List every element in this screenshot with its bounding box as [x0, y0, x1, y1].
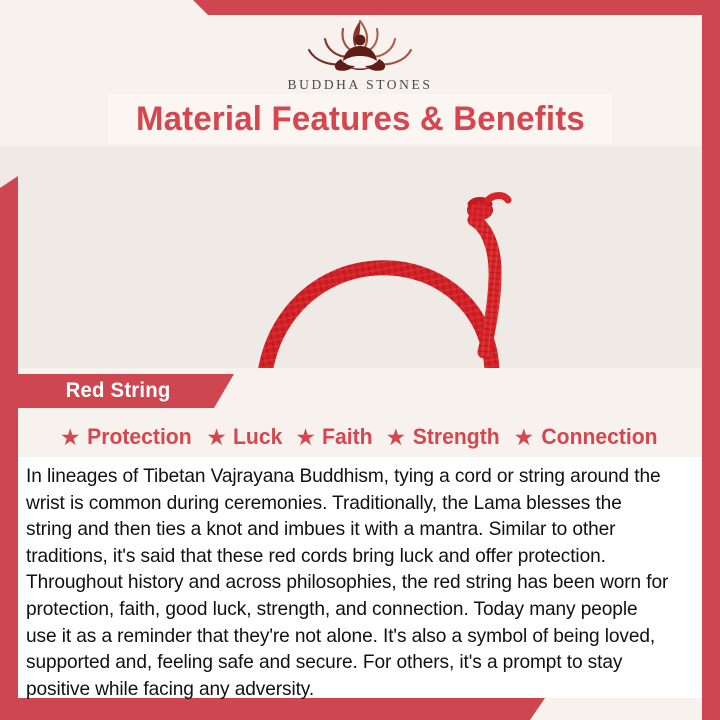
star-icon: ★ — [60, 426, 81, 449]
benefit-item-protection: ★ Protection — [54, 424, 200, 450]
product-name-label: Red String — [66, 379, 171, 403]
star-icon: ★ — [514, 426, 535, 449]
benefit-label: Luck — [233, 424, 282, 450]
product-image — [18, 146, 702, 368]
benefit-label: Protection — [88, 424, 192, 450]
benefit-item-luck: ★ Luck — [200, 424, 289, 450]
frame-bar-left — [0, 176, 18, 720]
star-icon: ★ — [206, 426, 227, 449]
title-banner: Material Features & Benefits — [108, 94, 612, 144]
page-title: Material Features & Benefits — [136, 100, 585, 139]
benefit-label: Connection — [542, 424, 658, 450]
star-icon: ★ — [295, 426, 316, 449]
brand-name: BUDDHA STONES — [0, 77, 720, 93]
benefit-item-strength: ★ Strength — [379, 424, 507, 450]
brand-logo: BUDDHA STONES — [0, 17, 720, 93]
benefits-row: ★ Protection ★ Luck ★ Faith ★ Strength ★… — [18, 418, 702, 456]
lotus-meditation-icon — [301, 17, 419, 75]
benefit-label: Faith — [322, 424, 372, 450]
infographic-page: BUDDHA STONES Material Features & Benefi… — [0, 0, 720, 720]
product-name-banner: Red String — [18, 374, 234, 408]
star-icon: ★ — [385, 426, 406, 449]
frame-bar-right — [702, 14, 720, 720]
benefit-label: Strength — [413, 424, 500, 450]
benefit-item-faith: ★ Faith — [289, 424, 379, 450]
benefit-item-connection: ★ Connection — [508, 424, 667, 450]
description-panel: In lineages of Tibetan Vajrayana Buddhis… — [18, 457, 702, 698]
description-text: In lineages of Tibetan Vajrayana Buddhis… — [26, 463, 670, 702]
